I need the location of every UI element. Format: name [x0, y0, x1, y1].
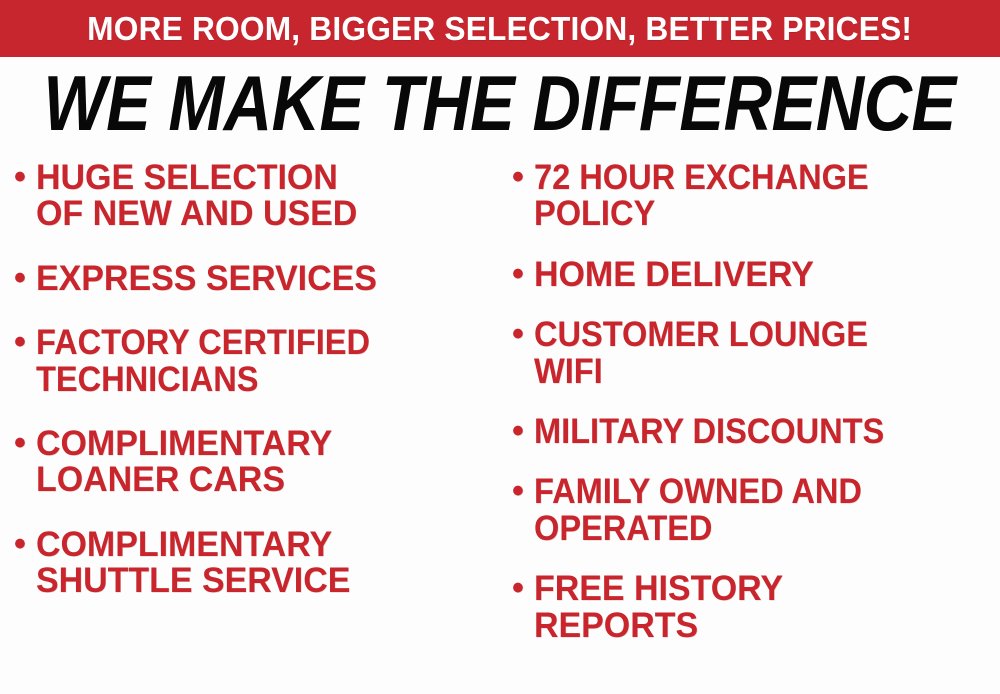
list-item-label: COMPLIMENTARY LOANER CARS [36, 426, 478, 499]
benefits-columns: • HUGE SELECTION OF NEW AND USED • EXPRE… [0, 160, 1000, 694]
list-item: • FAMILY OWNED AND OPERATED [512, 474, 1000, 547]
banner-headline-text: MORE ROOM, BIGGER SELECTION, BETTER PRIC… [88, 12, 913, 45]
bullet-dot-icon: • [512, 571, 534, 606]
list-item-label: HOME DELIVERY [534, 257, 986, 293]
list-item-label: FACTORY CERTIFIED TECHNICIANS [36, 325, 460, 398]
list-item-label: CUSTOMER LOUNGE WIFI [534, 317, 967, 390]
list-item-label: COMPLIMENTARY SHUTTLE SERVICE [36, 527, 478, 600]
bullet-dot-icon: • [512, 474, 534, 509]
list-item-label: 72 HOUR EXCHANGE POLICY [534, 160, 967, 233]
page-title: WE MAKE THE DIFFERENCE [44, 65, 956, 143]
bullet-dot-icon: • [512, 317, 534, 352]
promo-poster: MORE ROOM, BIGGER SELECTION, BETTER PRIC… [0, 0, 1000, 694]
bullet-dot-icon: • [14, 261, 36, 296]
bullet-dot-icon: • [14, 426, 36, 461]
list-item: • MILITARY DISCOUNTS [512, 414, 1000, 450]
list-item: • HOME DELIVERY [512, 257, 1000, 293]
bullet-dot-icon: • [512, 160, 534, 195]
bullet-dot-icon: • [14, 160, 36, 195]
top-banner: MORE ROOM, BIGGER SELECTION, BETTER PRIC… [0, 0, 1000, 57]
list-item: • CUSTOMER LOUNGE WIFI [512, 317, 1000, 390]
bullet-dot-icon: • [14, 325, 36, 360]
list-item: • HUGE SELECTION OF NEW AND USED [14, 160, 492, 233]
list-item: • COMPLIMENTARY SHUTTLE SERVICE [14, 527, 492, 600]
benefits-column-left: • HUGE SELECTION OF NEW AND USED • EXPRE… [14, 160, 492, 628]
list-item-label: HUGE SELECTION OF NEW AND USED [36, 160, 478, 233]
list-item-label: MILITARY DISCOUNTS [534, 414, 967, 450]
list-item-label: EXPRESS SERVICES [36, 261, 478, 297]
bullet-dot-icon: • [512, 257, 534, 292]
list-item-label: FREE HISTORY REPORTS [534, 571, 986, 644]
list-item: • EXPRESS SERVICES [14, 261, 492, 297]
bullet-dot-icon: • [512, 414, 534, 449]
headline-area: WE MAKE THE DIFFERENCE [0, 63, 1000, 145]
list-item: • 72 HOUR EXCHANGE POLICY [512, 160, 1000, 233]
benefits-column-right: • 72 HOUR EXCHANGE POLICY • HOME DELIVER… [512, 160, 1000, 668]
list-item-label: FAMILY OWNED AND OPERATED [534, 474, 967, 547]
bullet-dot-icon: • [14, 527, 36, 562]
list-item: • FACTORY CERTIFIED TECHNICIANS [14, 325, 492, 398]
list-item: • FREE HISTORY REPORTS [512, 571, 1000, 644]
list-item: • COMPLIMENTARY LOANER CARS [14, 426, 492, 499]
